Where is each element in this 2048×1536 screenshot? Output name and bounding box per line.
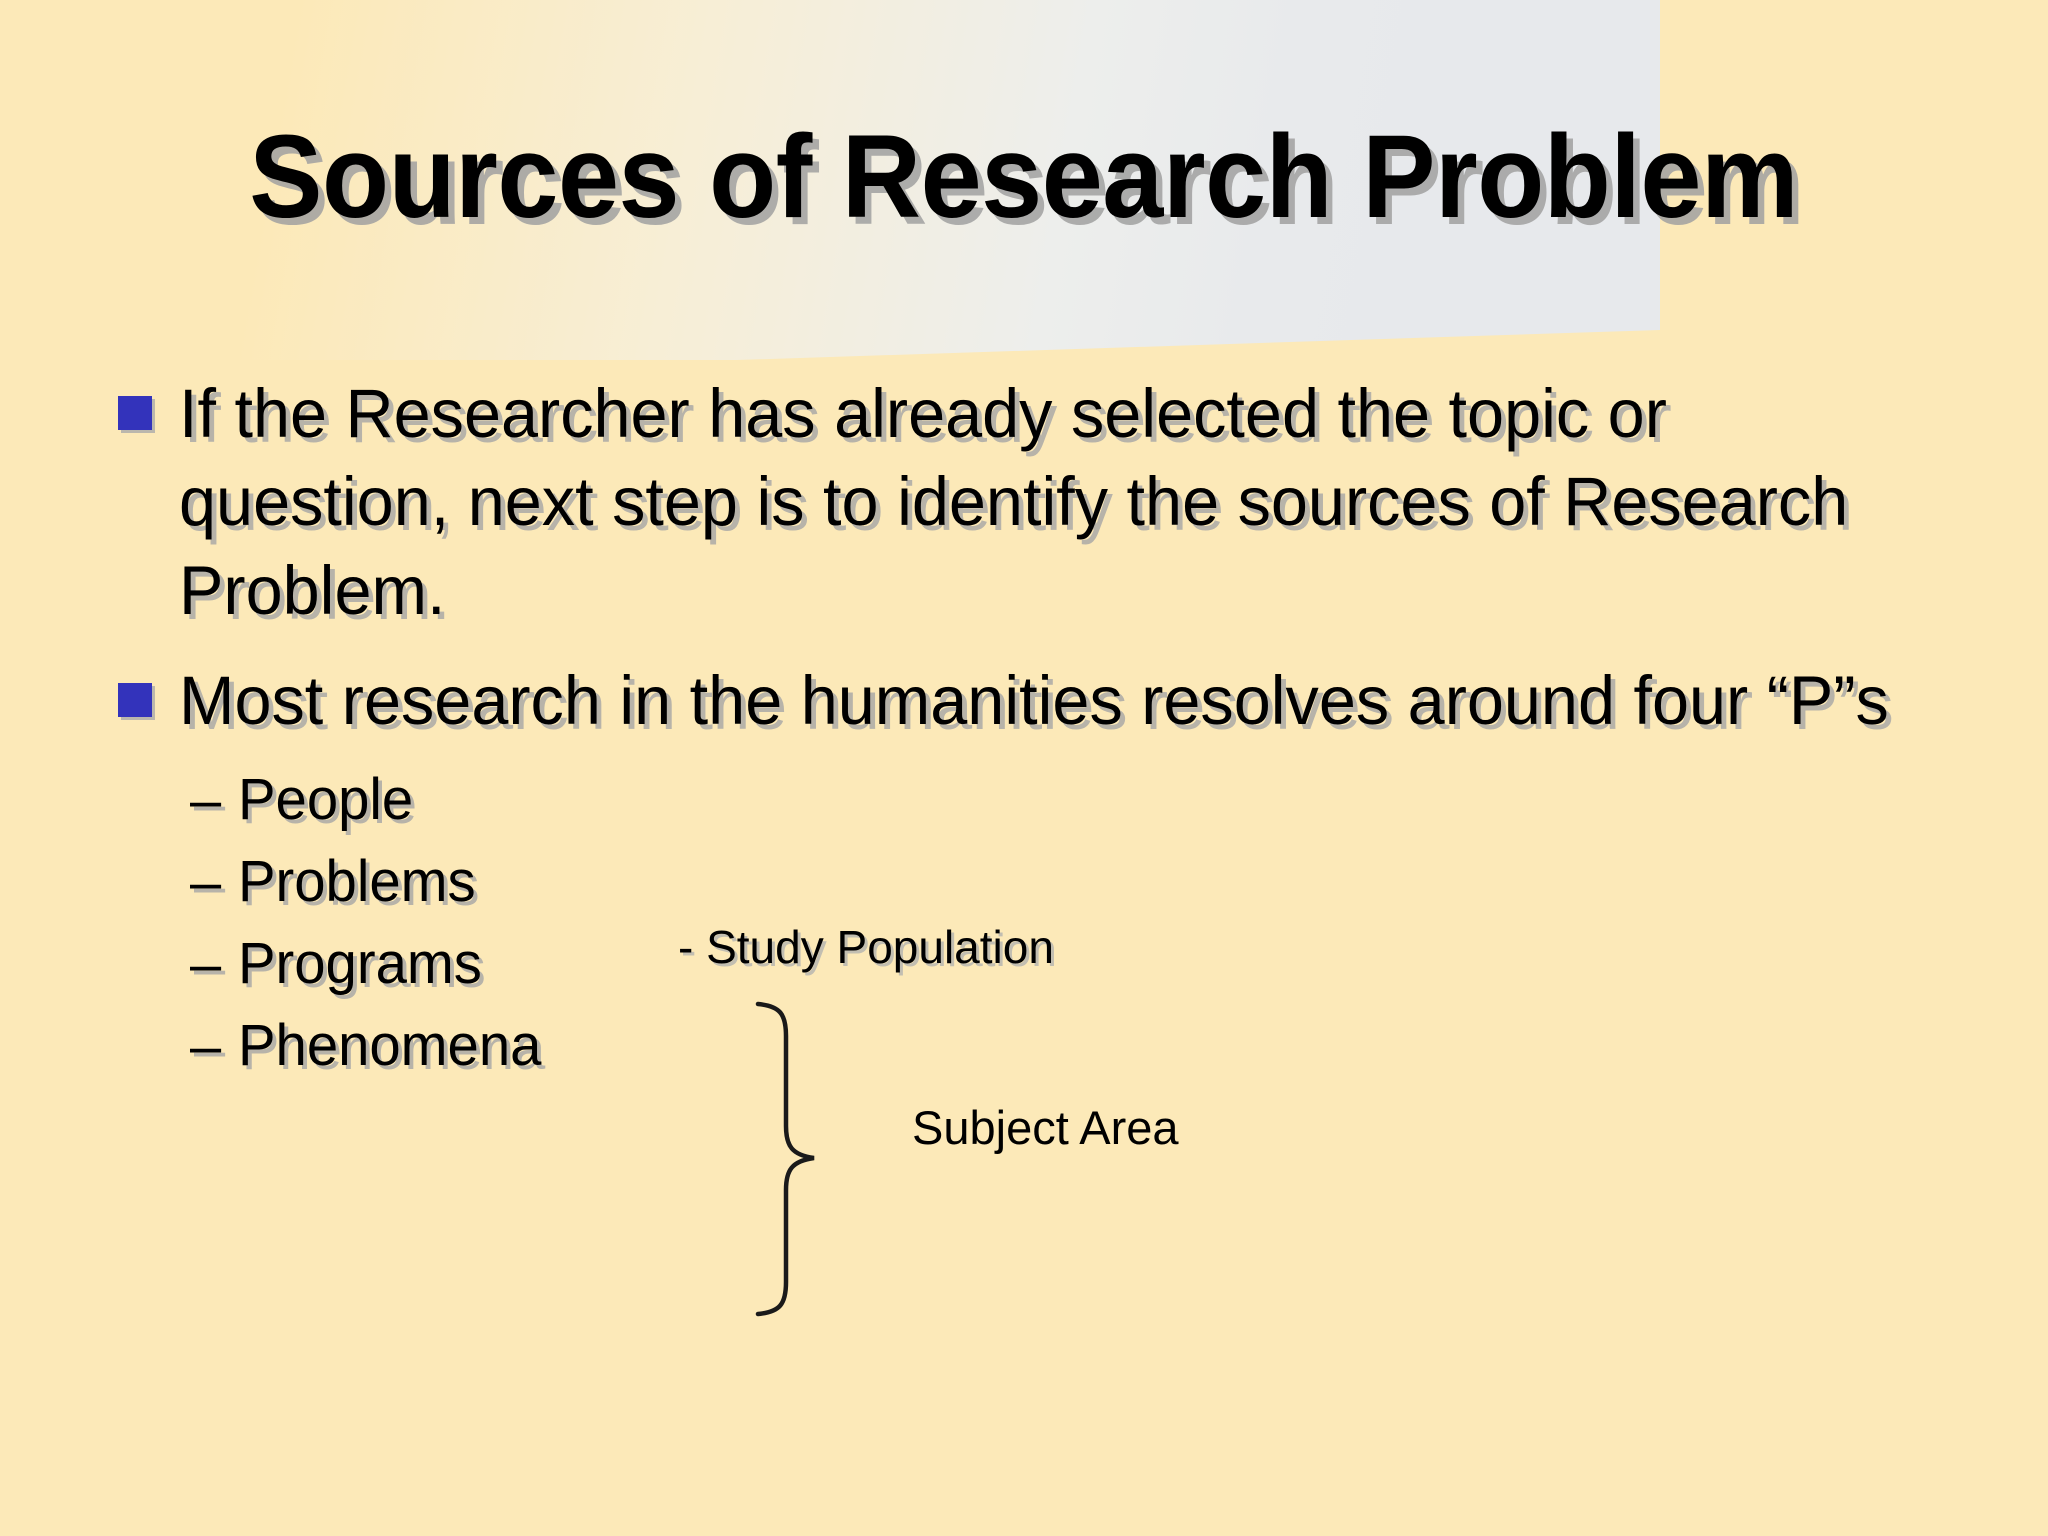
sub-bullet-label-programs: Programs (238, 935, 482, 993)
sub-bullet-programs: – Programs (190, 931, 1998, 1013)
annotation-subject-area: Subject Area (912, 1100, 1179, 1155)
dash-bullet-icon: – (190, 931, 238, 996)
bullet-text-2: Most research in the humanities resolves… (179, 657, 1916, 745)
curly-brace-icon (740, 1000, 850, 1320)
sub-bullet-people: – People (190, 767, 1998, 849)
body-content: If the Researcher has already selected t… (118, 370, 1998, 1095)
page-title: Sources of Research Problem (250, 118, 1799, 236)
dash-bullet-icon: – (190, 767, 238, 832)
sub-bullet-phenomena: – Phenomena (190, 1013, 1998, 1095)
sub-bullet-label-problems: Problems (238, 853, 476, 911)
bullet-item-2: Most research in the humanities resolves… (118, 657, 1998, 745)
sub-bullet-label-phenomena: Phenomena (238, 1017, 541, 1075)
dash-bullet-icon: – (190, 849, 238, 914)
bullet-item-1: If the Researcher has already selected t… (118, 370, 1998, 635)
presentation-slide: Sources of Research Problem If the Resea… (0, 0, 2048, 1536)
annotation-study-population: - Study Population (678, 920, 1054, 974)
bullet-text-1: If the Researcher has already selected t… (179, 370, 1916, 635)
title-block: Sources of Research Problem (0, 118, 2048, 236)
square-bullet-icon (118, 683, 152, 717)
curly-brace-svg (740, 1000, 850, 1320)
sub-bullet-problems: – Problems (190, 849, 1998, 931)
dash-bullet-icon: – (190, 1013, 238, 1078)
sub-bullet-list: – People – Problems – Programs – Phenome… (190, 767, 1998, 1095)
square-bullet-icon (118, 396, 152, 430)
sub-bullet-label-people: People (238, 771, 413, 829)
